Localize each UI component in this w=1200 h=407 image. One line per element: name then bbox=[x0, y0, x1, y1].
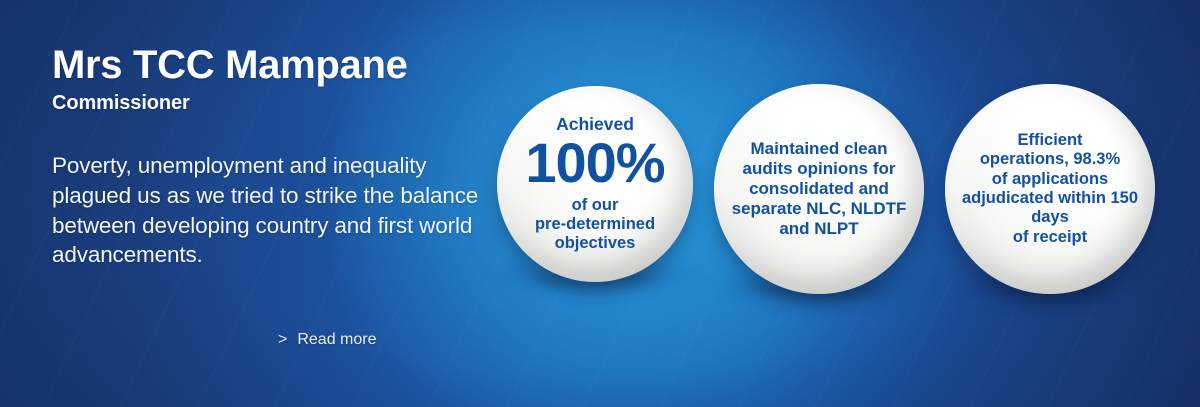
sphere-metric-value: 100% bbox=[525, 136, 664, 191]
sphere-line-1: Maintained clean bbox=[751, 139, 888, 159]
sphere-text-clean-audits: Maintained clean audits opinions for con… bbox=[714, 84, 924, 294]
sphere-line-6: of receipt bbox=[1013, 228, 1087, 247]
highlight-sphere-efficient-operations: Efficient operations, 98.3% of applicati… bbox=[945, 84, 1155, 294]
sphere-line-3: of applications bbox=[992, 170, 1108, 189]
sphere-line-4: separate NLC, NLDTF bbox=[732, 199, 907, 219]
commissioner-banner: Mrs TCC Mampane Commissioner Poverty, un… bbox=[0, 0, 1200, 407]
read-more-link[interactable]: > Read more bbox=[278, 331, 377, 349]
commissioner-name: Mrs TCC Mampane bbox=[52, 44, 482, 87]
sphere-line-2: operations, 98.3% bbox=[980, 150, 1120, 169]
sphere-text-achieved: Achieved 100% of our pre-determined obje… bbox=[497, 86, 693, 282]
sphere-line-4: adjudicated within 150 bbox=[962, 189, 1138, 208]
highlight-sphere-achieved: Achieved 100% of our pre-determined obje… bbox=[497, 86, 693, 282]
sphere-line-5: days bbox=[1031, 208, 1069, 227]
commissioner-quote: Poverty, unemployment and inequality pla… bbox=[52, 151, 482, 270]
sphere-line-5: and NLPT bbox=[779, 219, 858, 239]
sphere-line-3: objectives bbox=[555, 234, 636, 253]
sphere-line-1: Efficient bbox=[1017, 131, 1082, 150]
sphere-line-3: consolidated and bbox=[749, 179, 889, 199]
chevron-right-icon: > bbox=[278, 332, 287, 348]
read-more-label: Read more bbox=[297, 331, 376, 349]
commissioner-title: Commissioner bbox=[52, 92, 482, 115]
sphere-line-2: pre-determined bbox=[535, 215, 655, 234]
sphere-line-1: of our bbox=[572, 196, 619, 215]
sphere-text-efficient-operations: Efficient operations, 98.3% of applicati… bbox=[945, 84, 1155, 294]
sphere-line-2: audits opinions for bbox=[743, 159, 896, 179]
highlight-sphere-clean-audits: Maintained clean audits opinions for con… bbox=[714, 84, 924, 294]
profile-text-block: Mrs TCC Mampane Commissioner Poverty, un… bbox=[52, 44, 482, 270]
